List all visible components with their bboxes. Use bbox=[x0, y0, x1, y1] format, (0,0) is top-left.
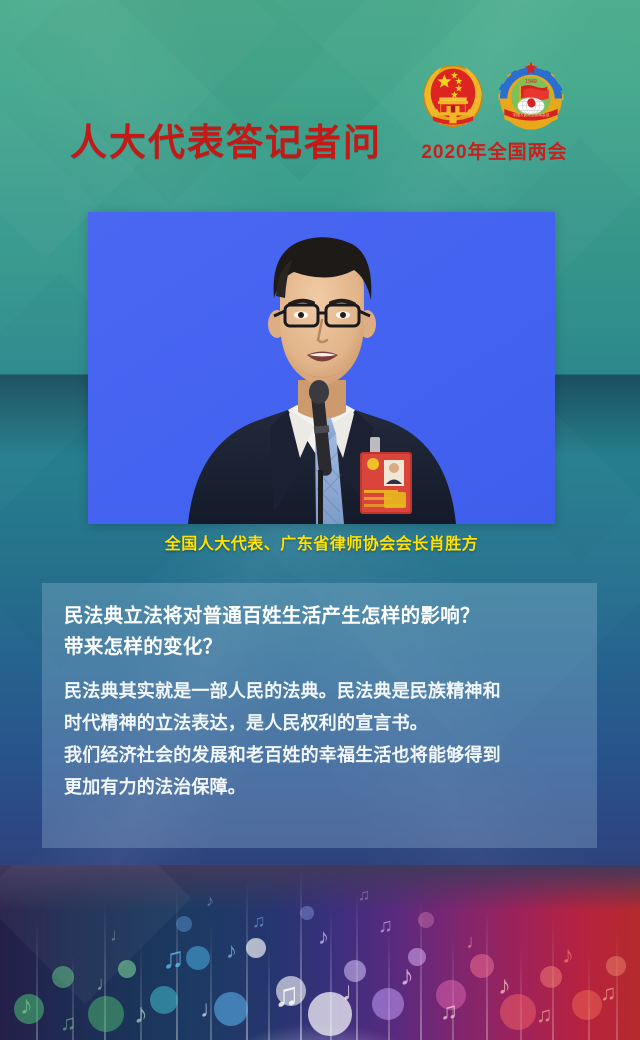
emblem-group: 1949 中国人民政治协商会议 bbox=[414, 58, 574, 134]
question-line-1: 民法典立法将对普通百姓生活产生怎样的影响？ bbox=[42, 583, 597, 632]
qa-panel: 民法典立法将对普通百姓生活产生怎样的影响？ 带来怎样的变化？ 民法典其实就是一部… bbox=[42, 583, 597, 848]
answer-line-4: 更加有力的法治保障。 bbox=[42, 771, 597, 803]
answer-line-2: 时代精神的立法表达，是人民权利的宣言书。 bbox=[42, 707, 597, 739]
poster-header: 人大代表答记者问 bbox=[0, 0, 640, 200]
speaker-photo bbox=[88, 212, 555, 524]
svg-text:中国人民政治协商会议: 中国人民政治协商会议 bbox=[513, 112, 550, 117]
question-line-2: 带来怎样的变化？ bbox=[42, 632, 597, 663]
page-title: 人大代表答记者问 bbox=[70, 112, 382, 166]
speaker-photo-illustration bbox=[88, 212, 555, 524]
tiananmen-gate bbox=[436, 97, 469, 115]
music-notes-banner: ♪ ♫ ♩ ♪ ♫ ♩ ♪ ♫ ♫ ♪ ♩ ♫ ♪ ♫ ♩ ♪ ♫ ♪ ♫ ♩ … bbox=[0, 865, 640, 1040]
svg-text:1949: 1949 bbox=[525, 79, 537, 85]
answer-line-3: 我们经济社会的发展和老百姓的幸福生活也将能够得到 bbox=[42, 739, 597, 771]
cppcc-emblem-icon: 1949 中国人民政治协商会议 bbox=[494, 60, 568, 134]
national-emblem-icon bbox=[417, 60, 489, 132]
answer-line-1: 民法典其实就是一部人民的法典。民法典是民族精神和 bbox=[42, 663, 597, 707]
poster: 人大代表答记者问 bbox=[0, 0, 640, 1040]
meeting-tag: 2020年全国两会 bbox=[412, 137, 577, 164]
photo-caption: 全国人大代表、广东省律师协会会长肖胜方 bbox=[88, 530, 555, 554]
